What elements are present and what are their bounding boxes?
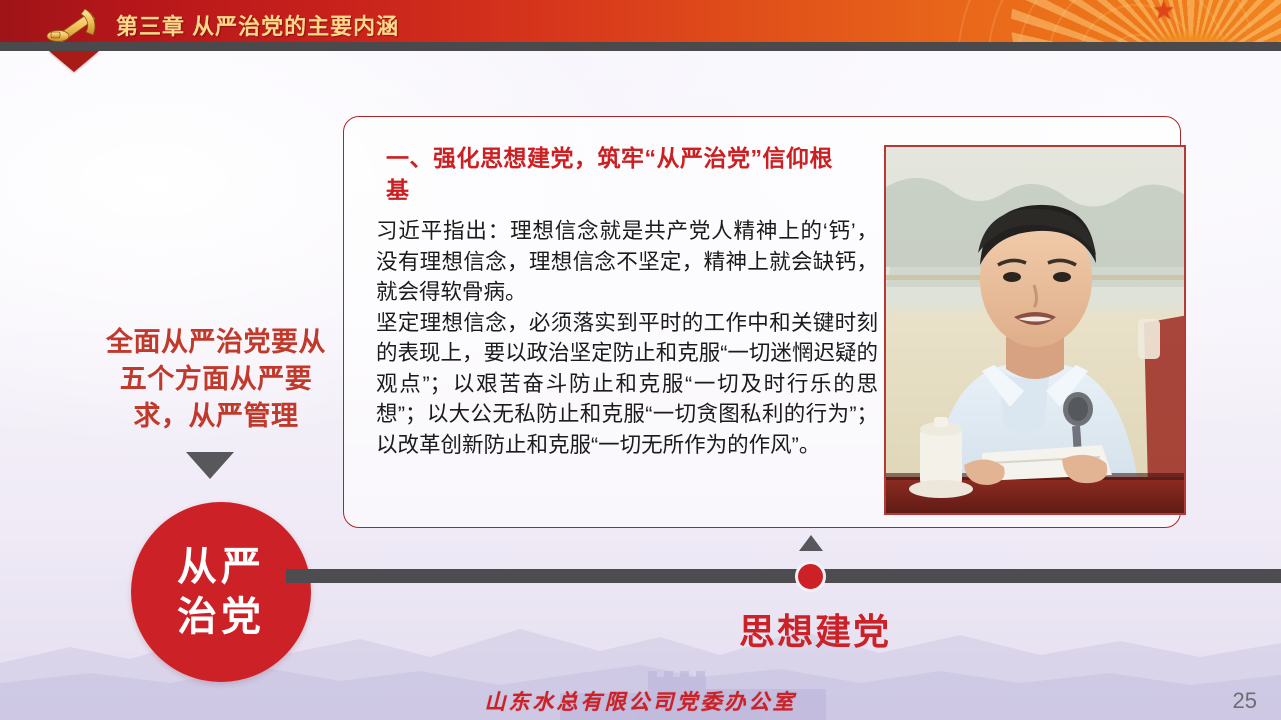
chapter-title: 第三章 从严治党的主要内涵	[116, 9, 399, 41]
header-starburst-decoration	[1011, 0, 1281, 42]
timeline-node-label: 思想建党	[660, 603, 970, 655]
header-underbar	[0, 42, 1281, 51]
circle-node-congyanzhidang[interactable]: 从严 治党	[131, 502, 311, 682]
header-pointer-triangle-icon	[49, 51, 99, 72]
card-paragraph-2: 坚定理想信念，必须落实到平时的工作中和关键时刻的表现上，要以政治坚定防止和克服“…	[376, 308, 878, 461]
triangle-up-icon	[799, 535, 823, 551]
card-paragraph-1: 习近平指出：理想信念就是共产党人精神上的‘钙’，没有理想信念，理想信念不坚定，精…	[376, 216, 878, 308]
left-lead-text: 全面从严治党要从五个方面从严要求，从严管理	[96, 324, 336, 435]
page-number: 25	[1233, 688, 1257, 714]
triangle-down-icon	[186, 452, 234, 479]
circle-node-line-1: 从严	[177, 542, 265, 592]
slide-header: 第三章 从严治党的主要内涵	[0, 0, 1281, 42]
slide-root: 第三章 从严治党的主要内涵 全面从严治党要从五个方面从严要求，从严管理 从严 治…	[0, 0, 1281, 720]
card-body: 习近平指出：理想信念就是共产党人精神上的‘钙’，没有理想信念，理想信念不坚定，精…	[376, 216, 878, 460]
timeline-bar	[286, 569, 1281, 583]
footer-org-name: 山东水总有限公司党委办公室	[0, 686, 1281, 716]
speaker-photo	[884, 145, 1186, 515]
circle-node-line-2: 治党	[177, 592, 265, 642]
timeline-dot-icon[interactable]	[795, 561, 826, 592]
cpc-hammer-sickle-emblem-icon	[38, 3, 112, 42]
card-title: 一、强化思想建党，筑牢“从严治党”信仰根基	[386, 142, 856, 206]
